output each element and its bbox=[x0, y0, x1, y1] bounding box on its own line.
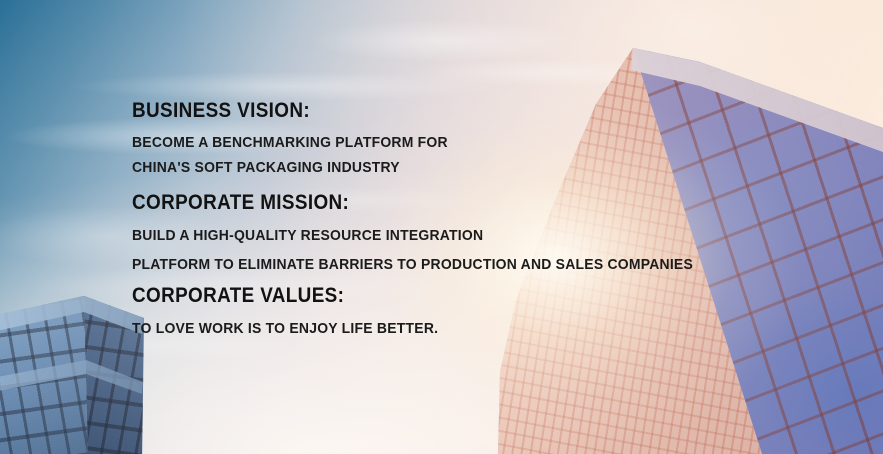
corporate-mission-line-1: BUILD A HIGH-QUALITY RESOURCE INTEGRATIO… bbox=[132, 226, 483, 245]
hero-banner: BUSINESS VISION: BECOME A BENCHMARKING P… bbox=[0, 0, 883, 454]
stepped-glass-building-lower-left bbox=[0, 282, 202, 454]
business-vision-line-1: BECOME A BENCHMARKING PLATFORM FOR bbox=[132, 133, 448, 152]
corporate-mission-heading: CORPORATE MISSION: bbox=[132, 192, 349, 214]
corporate-values-line-1: TO LOVE WORK IS TO ENJOY LIFE BETTER. bbox=[132, 319, 438, 338]
corporate-values-heading: CORPORATE VALUES: bbox=[132, 285, 344, 307]
business-vision-heading: BUSINESS VISION: bbox=[132, 100, 310, 122]
business-vision-line-2: CHINA'S SOFT PACKAGING INDUSTRY bbox=[132, 158, 400, 177]
corporate-mission-line-2: PLATFORM TO ELIMINATE BARRIERS TO PRODUC… bbox=[132, 255, 693, 274]
